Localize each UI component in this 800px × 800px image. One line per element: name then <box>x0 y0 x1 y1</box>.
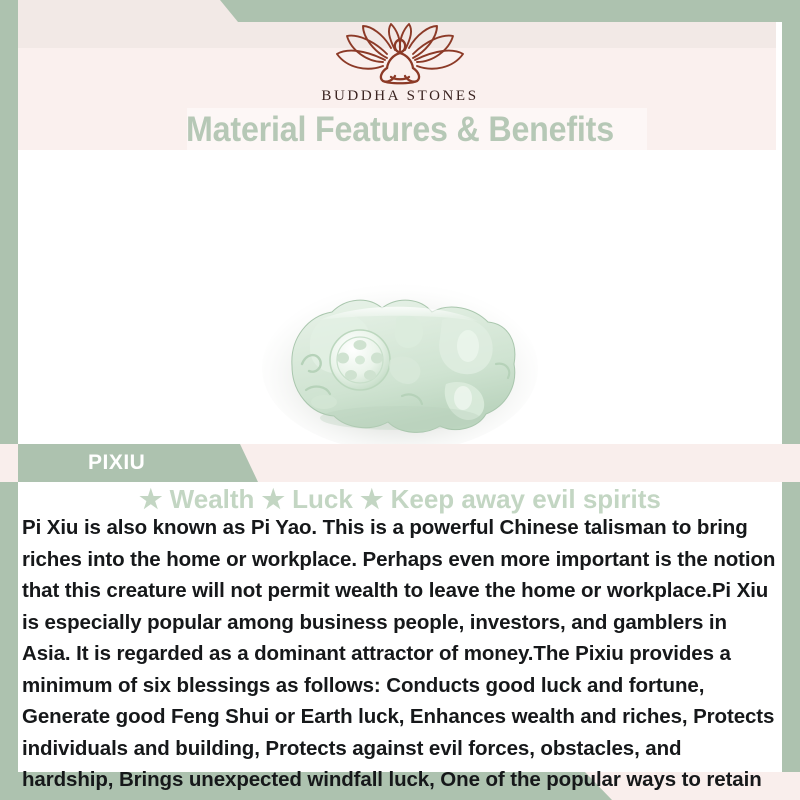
product-image-area <box>18 150 782 442</box>
benefits-line: ★ Wealth ★ Luck ★ Keep away evil spirits <box>18 484 782 514</box>
infographic-card: BUDDHA STONES Material Features & Benefi… <box>0 0 800 800</box>
description-paragraph: Pi Xiu is also known as Pi Yao. This is … <box>22 512 778 800</box>
jade-pixiu-carving-image <box>250 268 550 458</box>
brand-name: BUDDHA STONES <box>321 88 478 105</box>
lotus-meditation-logo-icon <box>325 20 475 86</box>
brand-logo: BUDDHA STONES <box>0 20 800 105</box>
page-title: Material Features & Benefits <box>32 106 768 154</box>
pixiu-label: PIXIU <box>88 444 145 482</box>
